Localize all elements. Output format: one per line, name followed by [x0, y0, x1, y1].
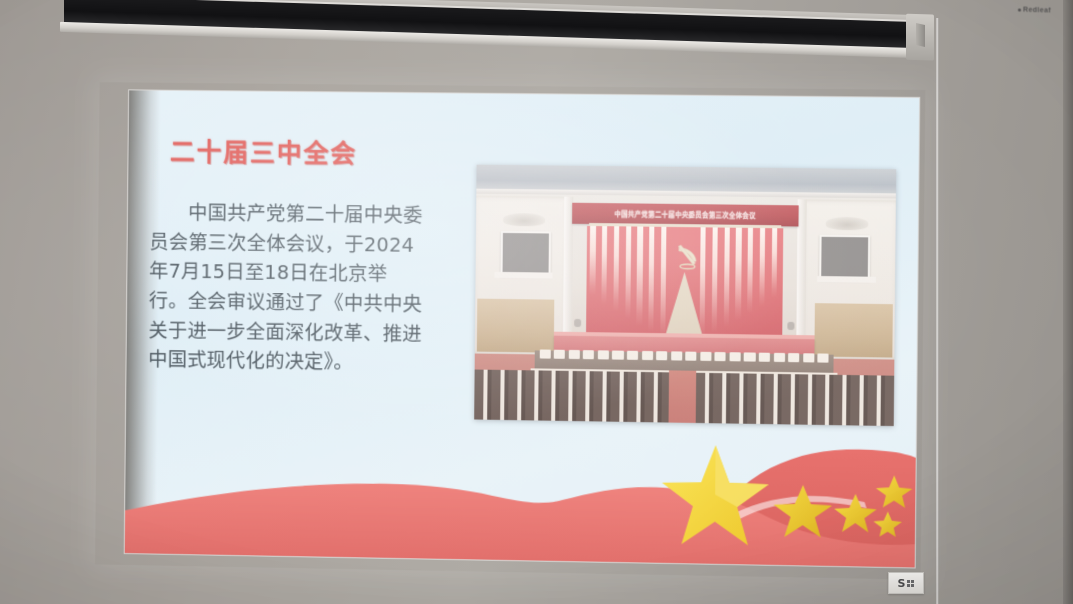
- door-handle-left: [574, 319, 581, 327]
- name-card: [774, 353, 785, 362]
- wall-ornament-right: [826, 217, 868, 230]
- hammer-and-sickle-icon: [674, 241, 701, 275]
- projected-slide-area: 二十届三中全会 中国共产党第二十届中央委员会第三次全体会议，于2024年7月15…: [95, 82, 925, 580]
- door-handle-right: [787, 322, 794, 330]
- name-card: [700, 352, 711, 361]
- dot: [911, 584, 914, 587]
- dot: [907, 580, 910, 583]
- name-card: [788, 353, 799, 362]
- name-card: [539, 350, 550, 359]
- wall-corner-edge: [1063, 0, 1073, 604]
- name-card: [554, 350, 565, 359]
- sticker-glyph: S: [898, 578, 906, 589]
- wall-sticker: S: [888, 572, 924, 594]
- name-card: [759, 353, 770, 362]
- name-card: [818, 354, 829, 363]
- name-card: [656, 351, 667, 360]
- window-shelf-right: [817, 276, 876, 283]
- name-card: [598, 350, 609, 359]
- name-card: [729, 352, 740, 361]
- name-card: [744, 353, 755, 362]
- name-card: [715, 352, 726, 361]
- wall-ornament-left: [503, 213, 545, 226]
- name-card: [568, 350, 579, 359]
- name-card: [803, 353, 814, 362]
- housing-mount-bracket: [916, 23, 925, 47]
- name-card: [642, 351, 653, 360]
- wall-seam: [936, 18, 939, 604]
- name-card: [685, 352, 696, 361]
- center-aisle: [668, 370, 695, 423]
- name-card: [612, 351, 623, 360]
- projector-screen-brand-label: Redleaf: [1018, 6, 1051, 14]
- slide-title: 二十届三中全会: [170, 132, 358, 170]
- dot: [911, 580, 914, 583]
- name-card: [671, 351, 682, 360]
- brand-text: Redleaf: [1023, 7, 1051, 15]
- hall-window-left: [501, 231, 551, 276]
- sticker-dots-icon: [907, 580, 914, 587]
- dot: [907, 584, 910, 587]
- window-shelf-left: [494, 272, 552, 279]
- powerpoint-slide[interactable]: 二十届三中全会 中国共产党第二十届中央委员会第三次全体会议，于2024年7月15…: [125, 90, 919, 567]
- hall-wood-dado-right: [814, 303, 893, 358]
- classroom-projection-scene: Redleaf 二十届三中全会 中国共产党第二十届中央委员会第三次全体会议，于2…: [0, 0, 1073, 604]
- hall-banner-text: 中国共产党第二十届中央委员会第三次全体会议: [614, 209, 755, 220]
- plenary-hall-photo[interactable]: 中国共产党第二十届中央委员会第三次全体会议: [474, 165, 896, 426]
- slide-body-paragraph: 中国共产党第二十届中央委员会第三次全体会议，于2024年7月15日至18日在北京…: [148, 198, 425, 379]
- brand-dot-icon: [1018, 8, 1021, 11]
- name-card: [583, 350, 594, 359]
- hall-window-right: [819, 235, 870, 281]
- hall-wood-dado-left: [477, 298, 555, 353]
- name-card: [627, 351, 638, 360]
- photo-content: 中国共产党第二十届中央委员会第三次全体会议: [474, 165, 896, 426]
